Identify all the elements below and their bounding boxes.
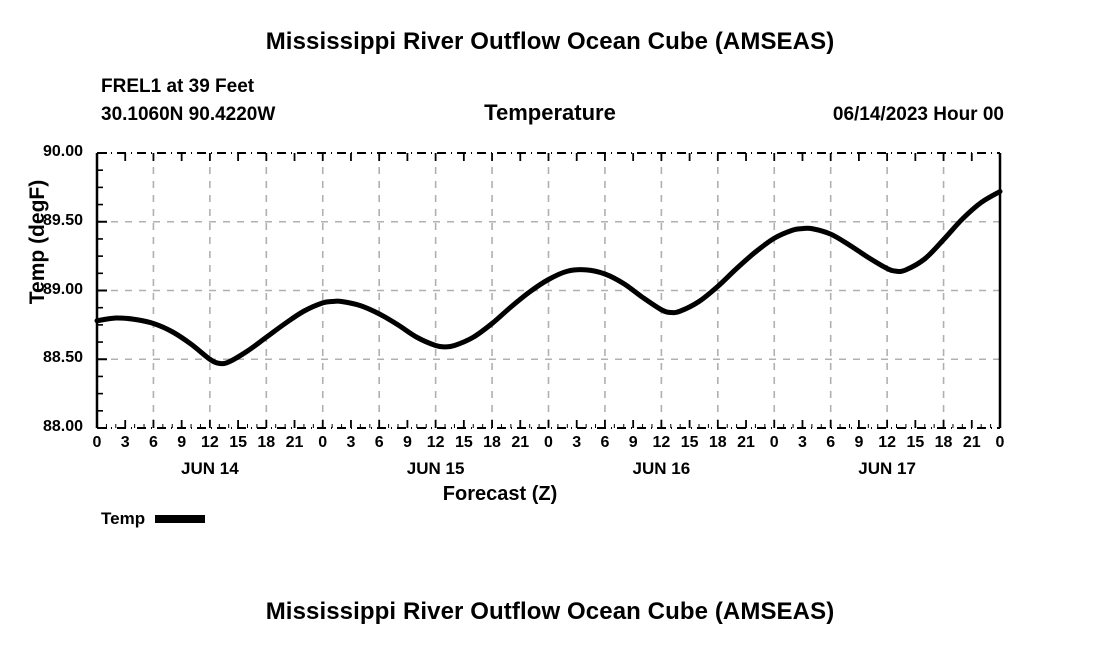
x-axis-tick-label: 9 bbox=[167, 434, 197, 452]
x-axis-tick-label: 21 bbox=[731, 434, 761, 452]
y-axis-title: Temp (degF) bbox=[26, 142, 50, 342]
x-axis-tick-label: 15 bbox=[449, 434, 479, 452]
x-axis-tick-label: 9 bbox=[844, 434, 874, 452]
y-axis-tick-label: 89.00 bbox=[7, 281, 83, 299]
x-axis-tick-label: 18 bbox=[251, 434, 281, 452]
x-axis-tick-label: 12 bbox=[872, 434, 902, 452]
x-axis-tick-label: 6 bbox=[364, 434, 394, 452]
x-axis-tick-label: 21 bbox=[505, 434, 535, 452]
legend-color-swatch bbox=[155, 515, 205, 523]
x-axis-tick-label: 6 bbox=[816, 434, 846, 452]
x-axis-tick-label: 12 bbox=[195, 434, 225, 452]
x-axis-day-label: JUN 17 bbox=[827, 459, 947, 479]
chart-page: Mississippi River Outflow Ocean Cube (AM… bbox=[0, 0, 1100, 650]
x-axis-tick-label: 18 bbox=[477, 434, 507, 452]
x-axis-tick-label: 15 bbox=[223, 434, 253, 452]
x-axis-tick-label: 21 bbox=[957, 434, 987, 452]
plot-area bbox=[0, 0, 1100, 650]
chart-legend: Temp bbox=[101, 509, 205, 529]
page-title-bottom: Mississippi River Outflow Ocean Cube (AM… bbox=[0, 598, 1100, 626]
x-axis-tick-label: 6 bbox=[590, 434, 620, 452]
x-axis-tick-label: 3 bbox=[787, 434, 817, 452]
x-axis-day-label: JUN 15 bbox=[376, 459, 496, 479]
y-axis-tick-label: 88.50 bbox=[7, 349, 83, 367]
x-axis-tick-label: 0 bbox=[985, 434, 1015, 452]
legend-item-label: Temp bbox=[101, 509, 145, 529]
x-axis-tick-label: 0 bbox=[308, 434, 338, 452]
temperature-line-chart bbox=[0, 0, 1100, 650]
x-axis-tick-label: 6 bbox=[138, 434, 168, 452]
y-axis-tick-label: 89.50 bbox=[7, 212, 83, 230]
x-axis-tick-label: 21 bbox=[280, 434, 310, 452]
x-axis-tick-label: 15 bbox=[675, 434, 705, 452]
x-axis-tick-label: 3 bbox=[336, 434, 366, 452]
x-axis-tick-label: 3 bbox=[110, 434, 140, 452]
x-axis-tick-label: 18 bbox=[929, 434, 959, 452]
x-axis-tick-label: 0 bbox=[82, 434, 112, 452]
x-axis-tick-label: 0 bbox=[759, 434, 789, 452]
x-axis-day-label: JUN 16 bbox=[601, 459, 721, 479]
x-axis-tick-label: 15 bbox=[900, 434, 930, 452]
x-axis-day-label: JUN 14 bbox=[150, 459, 270, 479]
x-axis-tick-label: 12 bbox=[646, 434, 676, 452]
x-axis-tick-label: 9 bbox=[618, 434, 648, 452]
x-axis-title: Forecast (Z) bbox=[340, 483, 660, 506]
x-axis-tick-label: 3 bbox=[562, 434, 592, 452]
x-axis-tick-label: 0 bbox=[534, 434, 564, 452]
y-axis-tick-label: 90.00 bbox=[7, 143, 83, 161]
x-axis-tick-label: 9 bbox=[392, 434, 422, 452]
y-axis-tick-label: 88.00 bbox=[7, 418, 83, 436]
x-axis-tick-label: 18 bbox=[703, 434, 733, 452]
x-axis-tick-label: 12 bbox=[421, 434, 451, 452]
